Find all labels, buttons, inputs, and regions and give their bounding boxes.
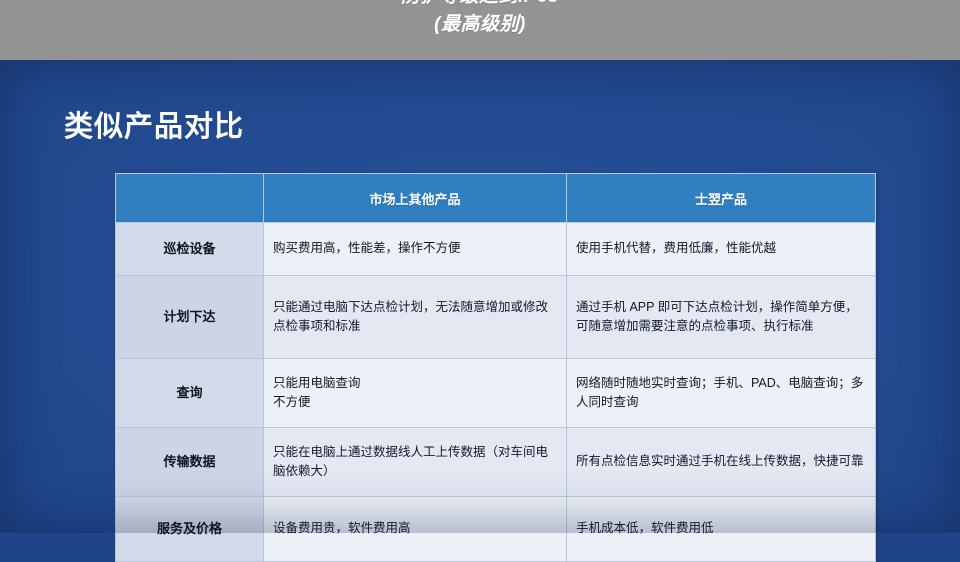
banner-line-2: (最高级别) <box>0 12 960 38</box>
cell-ours-text: 网络随时随地实时查询；手机、PAD、电脑查询；多人同时查询 <box>576 376 863 409</box>
cell-other-text: 购买费用高，性能差，操作不方便 <box>273 241 461 255</box>
top-banner: 防护等级达到IP68 (最高级别) <box>0 0 960 60</box>
cell-ours-text: 使用手机代替，费用低廉，性能优越 <box>576 241 776 255</box>
cell-ours-text: 通过手机 APP 即可下达点检计划，操作简单方便，可随意增加需要注意的点检事项、… <box>576 300 858 333</box>
cell-other: 只能用电脑查询 不方便 <box>264 359 567 428</box>
slide-page: 防护等级达到IP68 (最高级别) 类似产品对比 市场上其他产品 士翌产品 巡检… <box>0 0 960 533</box>
table-row: 传输数据 只能在电脑上通过数据线人工上传数据（对车间电脑依赖大） 所有点检信息实… <box>116 428 876 497</box>
table-row: 查询 只能用电脑查询 不方便 网络随时随地实时查询；手机、PAD、电脑查询；多人… <box>116 359 876 428</box>
table-row: 计划下达 只能通过电脑下达点检计划，无法随意增加或修改点检事项和标准 通过手机 … <box>116 276 876 359</box>
cell-other: 只能在电脑上通过数据线人工上传数据（对车间电脑依赖大） <box>264 428 567 497</box>
row-label: 传输数据 <box>116 428 264 497</box>
slide-body: 类似产品对比 市场上其他产品 士翌产品 巡检设备 购买费用高，性能差，操作不方便… <box>0 60 960 533</box>
header-other-products: 市场上其他产品 <box>264 174 567 223</box>
cell-ours: 使用手机代替，费用低廉，性能优越 <box>567 223 876 276</box>
header-corner-blank <box>116 174 264 223</box>
cell-ours-text: 手机成本低，软件费用低 <box>576 521 714 535</box>
cell-ours: 网络随时随地实时查询；手机、PAD、电脑查询；多人同时查询 <box>567 359 876 428</box>
row-label: 查询 <box>116 359 264 428</box>
banner-line-1: 防护等级达到IP68 <box>0 0 960 10</box>
row-label: 巡检设备 <box>116 223 264 276</box>
table-row: 服务及价格 设备费用贵，软件费用高 手机成本低，软件费用低 <box>116 497 876 562</box>
table-row: 巡检设备 购买费用高，性能差，操作不方便 使用手机代替，费用低廉，性能优越 <box>116 223 876 276</box>
comparison-table: 市场上其他产品 士翌产品 巡检设备 购买费用高，性能差，操作不方便 使用手机代替… <box>115 173 876 562</box>
cell-ours: 所有点检信息实时通过手机在线上传数据，快捷可靠 <box>567 428 876 497</box>
page-title: 类似产品对比 <box>64 103 244 145</box>
cell-ours: 通过手机 APP 即可下达点检计划，操作简单方便，可随意增加需要注意的点检事项、… <box>567 276 876 359</box>
table-header-row: 市场上其他产品 士翌产品 <box>116 174 876 223</box>
header-our-product: 士翌产品 <box>567 174 876 223</box>
cell-ours-text: 所有点检信息实时通过手机在线上传数据，快捷可靠 <box>576 454 864 468</box>
cell-other: 设备费用贵，软件费用高 <box>264 497 567 562</box>
row-label: 服务及价格 <box>116 497 264 562</box>
cell-other-text: 设备费用贵，软件费用高 <box>273 521 411 535</box>
cell-other-text: 只能用电脑查询 不方便 <box>273 376 361 409</box>
cell-ours: 手机成本低，软件费用低 <box>567 497 876 562</box>
cell-other-text: 只能在电脑上通过数据线人工上传数据（对车间电脑依赖大） <box>273 445 548 478</box>
cell-other: 购买费用高，性能差，操作不方便 <box>264 223 567 276</box>
cell-other: 只能通过电脑下达点检计划，无法随意增加或修改点检事项和标准 <box>264 276 567 359</box>
cell-other-text: 只能通过电脑下达点检计划，无法随意增加或修改点检事项和标准 <box>273 300 548 333</box>
row-label: 计划下达 <box>116 276 264 359</box>
